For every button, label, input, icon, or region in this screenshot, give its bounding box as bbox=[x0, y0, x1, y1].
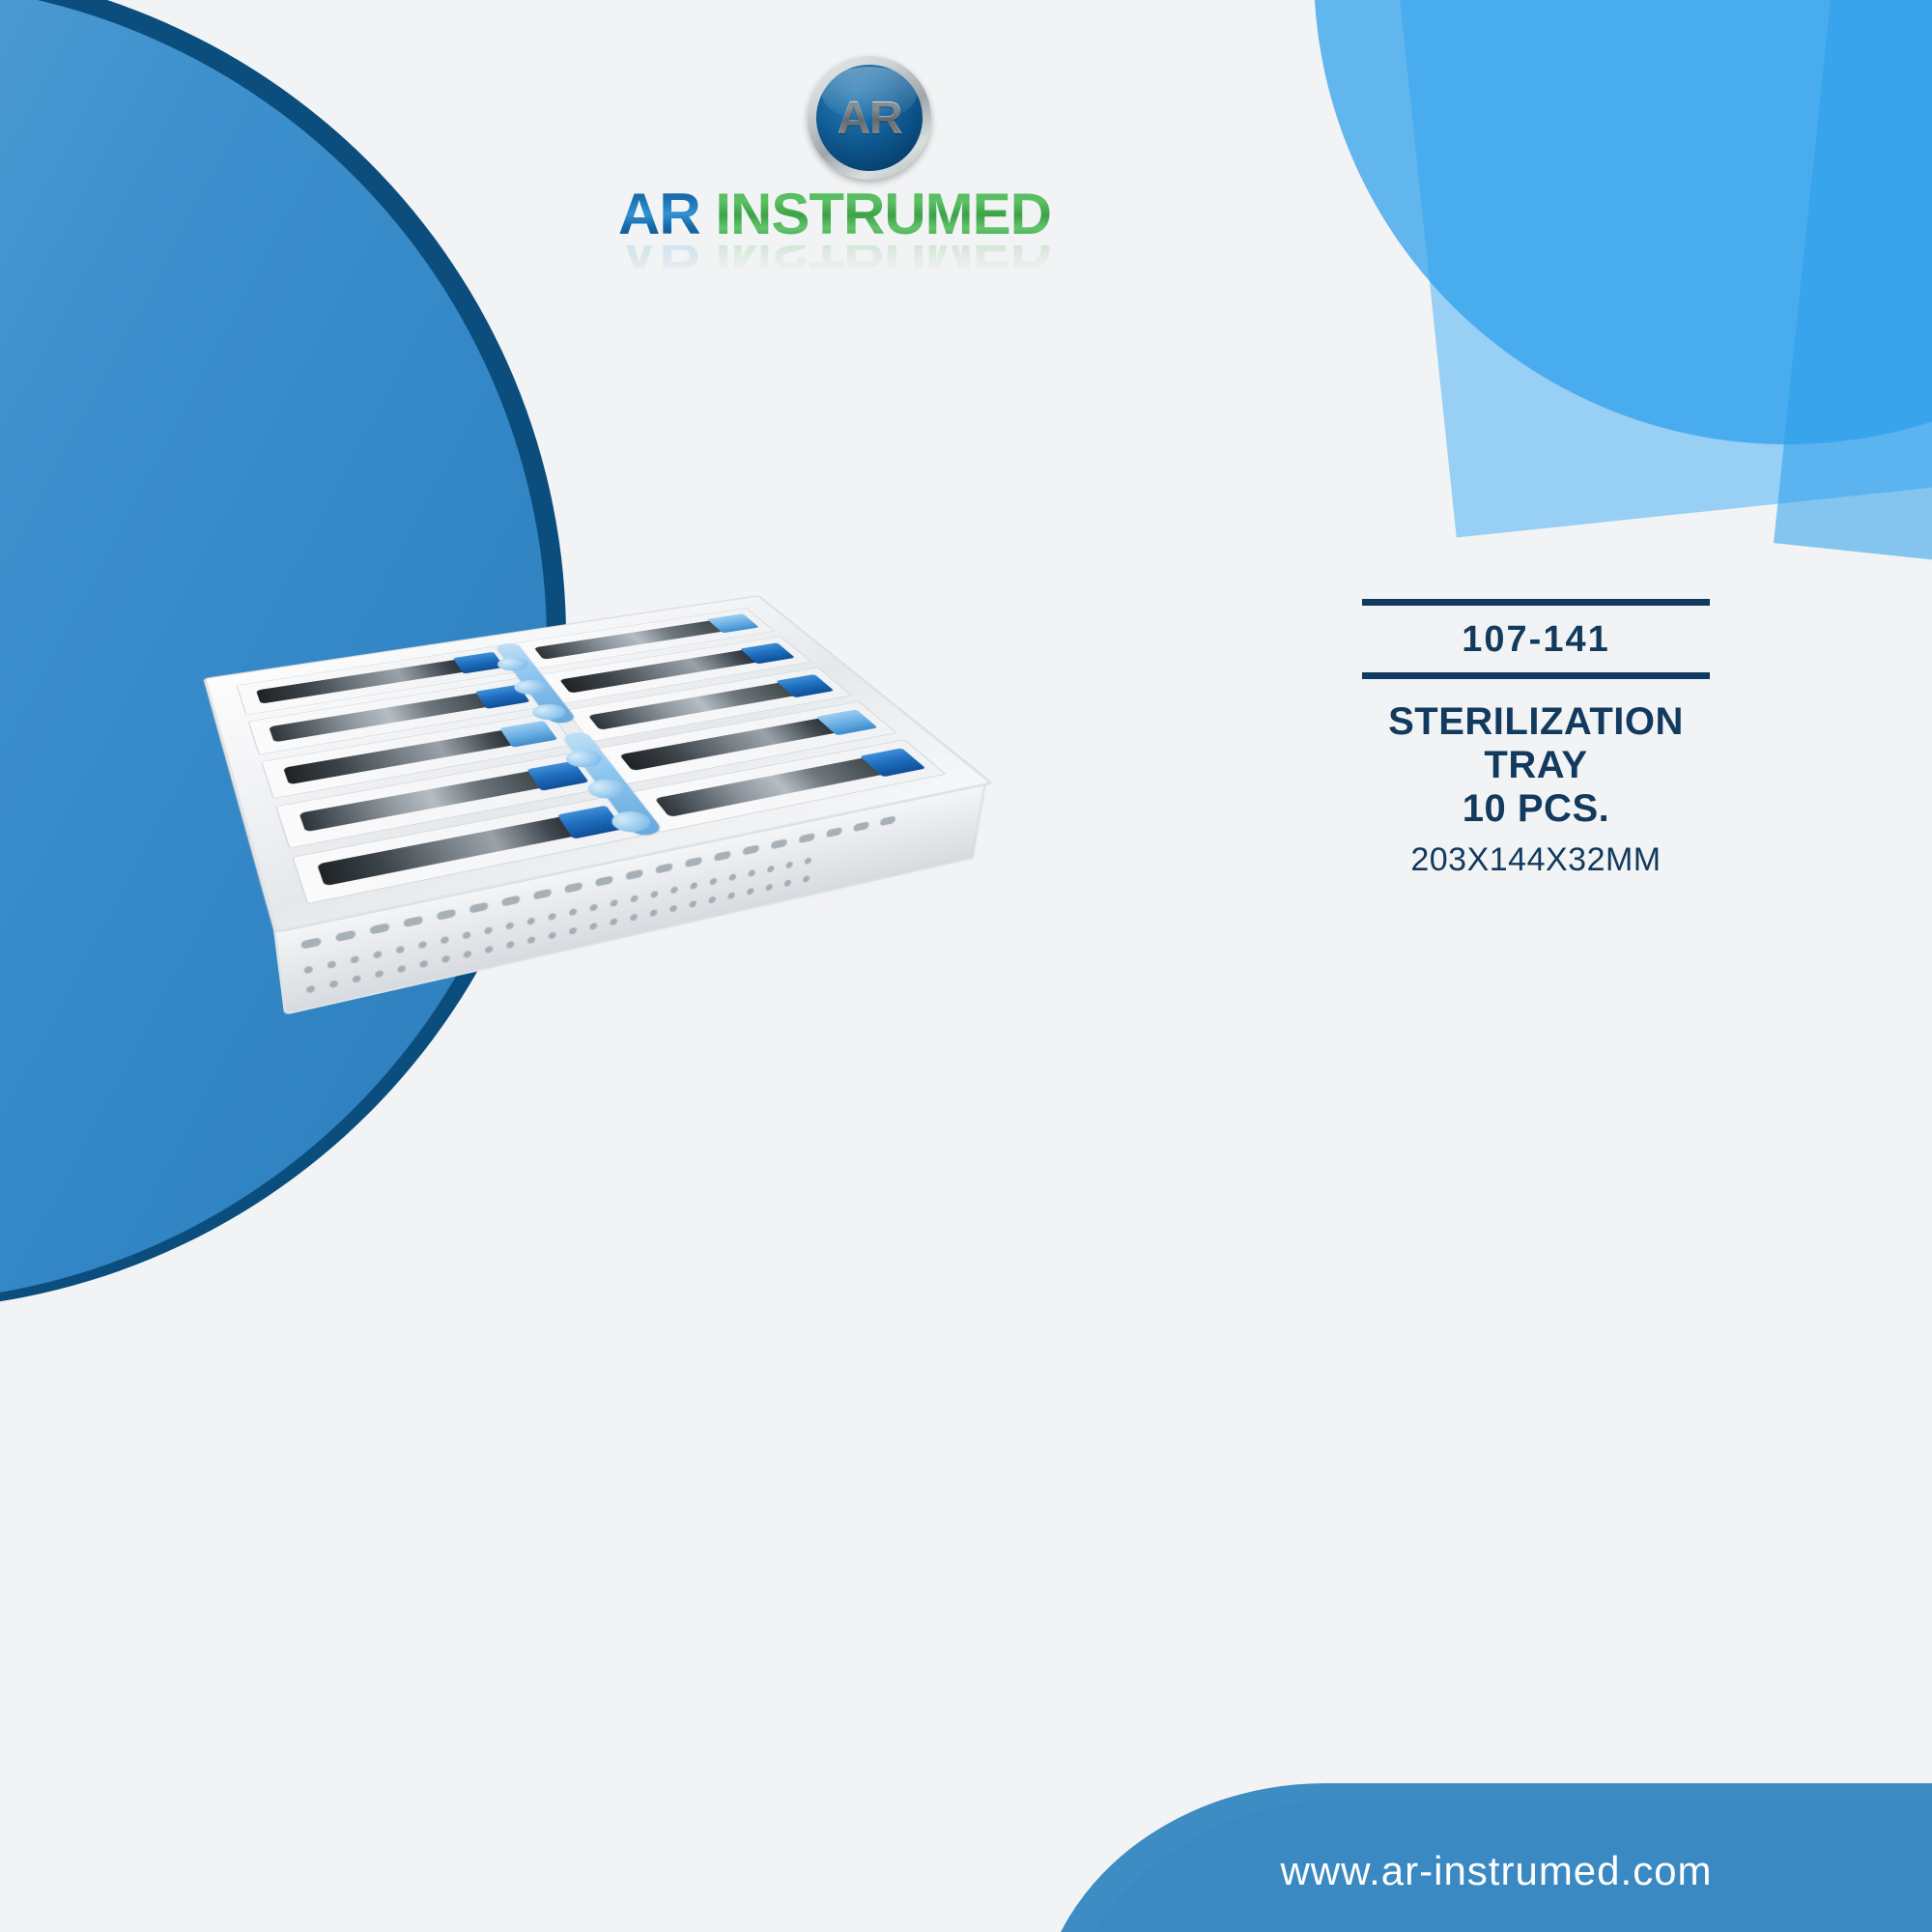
silicone-pad bbox=[582, 777, 630, 801]
silicone-pad bbox=[561, 748, 607, 770]
instrument-tip bbox=[816, 709, 878, 735]
wordmark-ar: AR bbox=[618, 182, 700, 246]
badge-initials: AR bbox=[816, 65, 923, 171]
tray-slot bbox=[261, 713, 575, 799]
poster-canvas: AR AR INSTRUMED AR INSTRUMED bbox=[0, 0, 1932, 1932]
sterilization-tray bbox=[203, 594, 946, 867]
instrument-tip bbox=[557, 806, 624, 839]
product-name: STERILIZATION TRAY 10 PCS. bbox=[1333, 679, 1739, 830]
instrument bbox=[654, 756, 892, 817]
brand-wordmark-reflection: AR INSTRUMED bbox=[618, 245, 1159, 278]
product-name-line-2: 10 PCS. bbox=[1333, 787, 1739, 831]
top-right-circle bbox=[1314, 0, 1932, 444]
instrument bbox=[317, 815, 584, 887]
brand-logo: AR AR INSTRUMED AR INSTRUMED bbox=[618, 56, 1159, 269]
product-dimensions: 203X144X32MM bbox=[1333, 830, 1739, 879]
silicone-pad bbox=[607, 809, 657, 835]
instrument bbox=[283, 728, 523, 784]
tray-slot bbox=[595, 701, 896, 784]
wordmark-instrumed-reflection: INSTRUMED bbox=[715, 245, 1051, 278]
brand-wordmark: AR INSTRUMED bbox=[618, 184, 1159, 245]
top-right-band bbox=[1337, 0, 1932, 537]
tray-slot bbox=[275, 752, 607, 848]
product-image bbox=[232, 522, 908, 908]
tray-slot-column-right bbox=[513, 608, 946, 833]
instrument bbox=[298, 769, 552, 832]
product-info-block: 107-141 STERILIZATION TRAY 10 PCS. 203X1… bbox=[1333, 599, 1739, 879]
wordmark-instrumed: INSTRUMED bbox=[715, 182, 1051, 246]
product-name-line-1: STERILIZATION TRAY bbox=[1333, 700, 1739, 787]
instrument bbox=[619, 717, 845, 771]
silicone-rail bbox=[561, 731, 665, 838]
wordmark-ar-reflection: AR bbox=[618, 245, 700, 278]
wordmark-gap-reflection bbox=[700, 245, 716, 278]
divider-top bbox=[1362, 599, 1710, 606]
top-right-sliver bbox=[1774, 0, 1932, 573]
badge-inner-sphere: AR bbox=[816, 65, 923, 171]
website-url[interactable]: www.ar-instrumed.com bbox=[1061, 1799, 1932, 1932]
instrument-tip bbox=[860, 748, 926, 777]
wordmark-gap bbox=[700, 182, 716, 246]
product-code: 107-141 bbox=[1333, 606, 1739, 672]
divider-bottom bbox=[1362, 672, 1710, 679]
instrument-tip bbox=[499, 721, 557, 748]
ar-sphere-badge-icon: AR bbox=[808, 56, 931, 180]
instrument-tip bbox=[527, 760, 589, 790]
